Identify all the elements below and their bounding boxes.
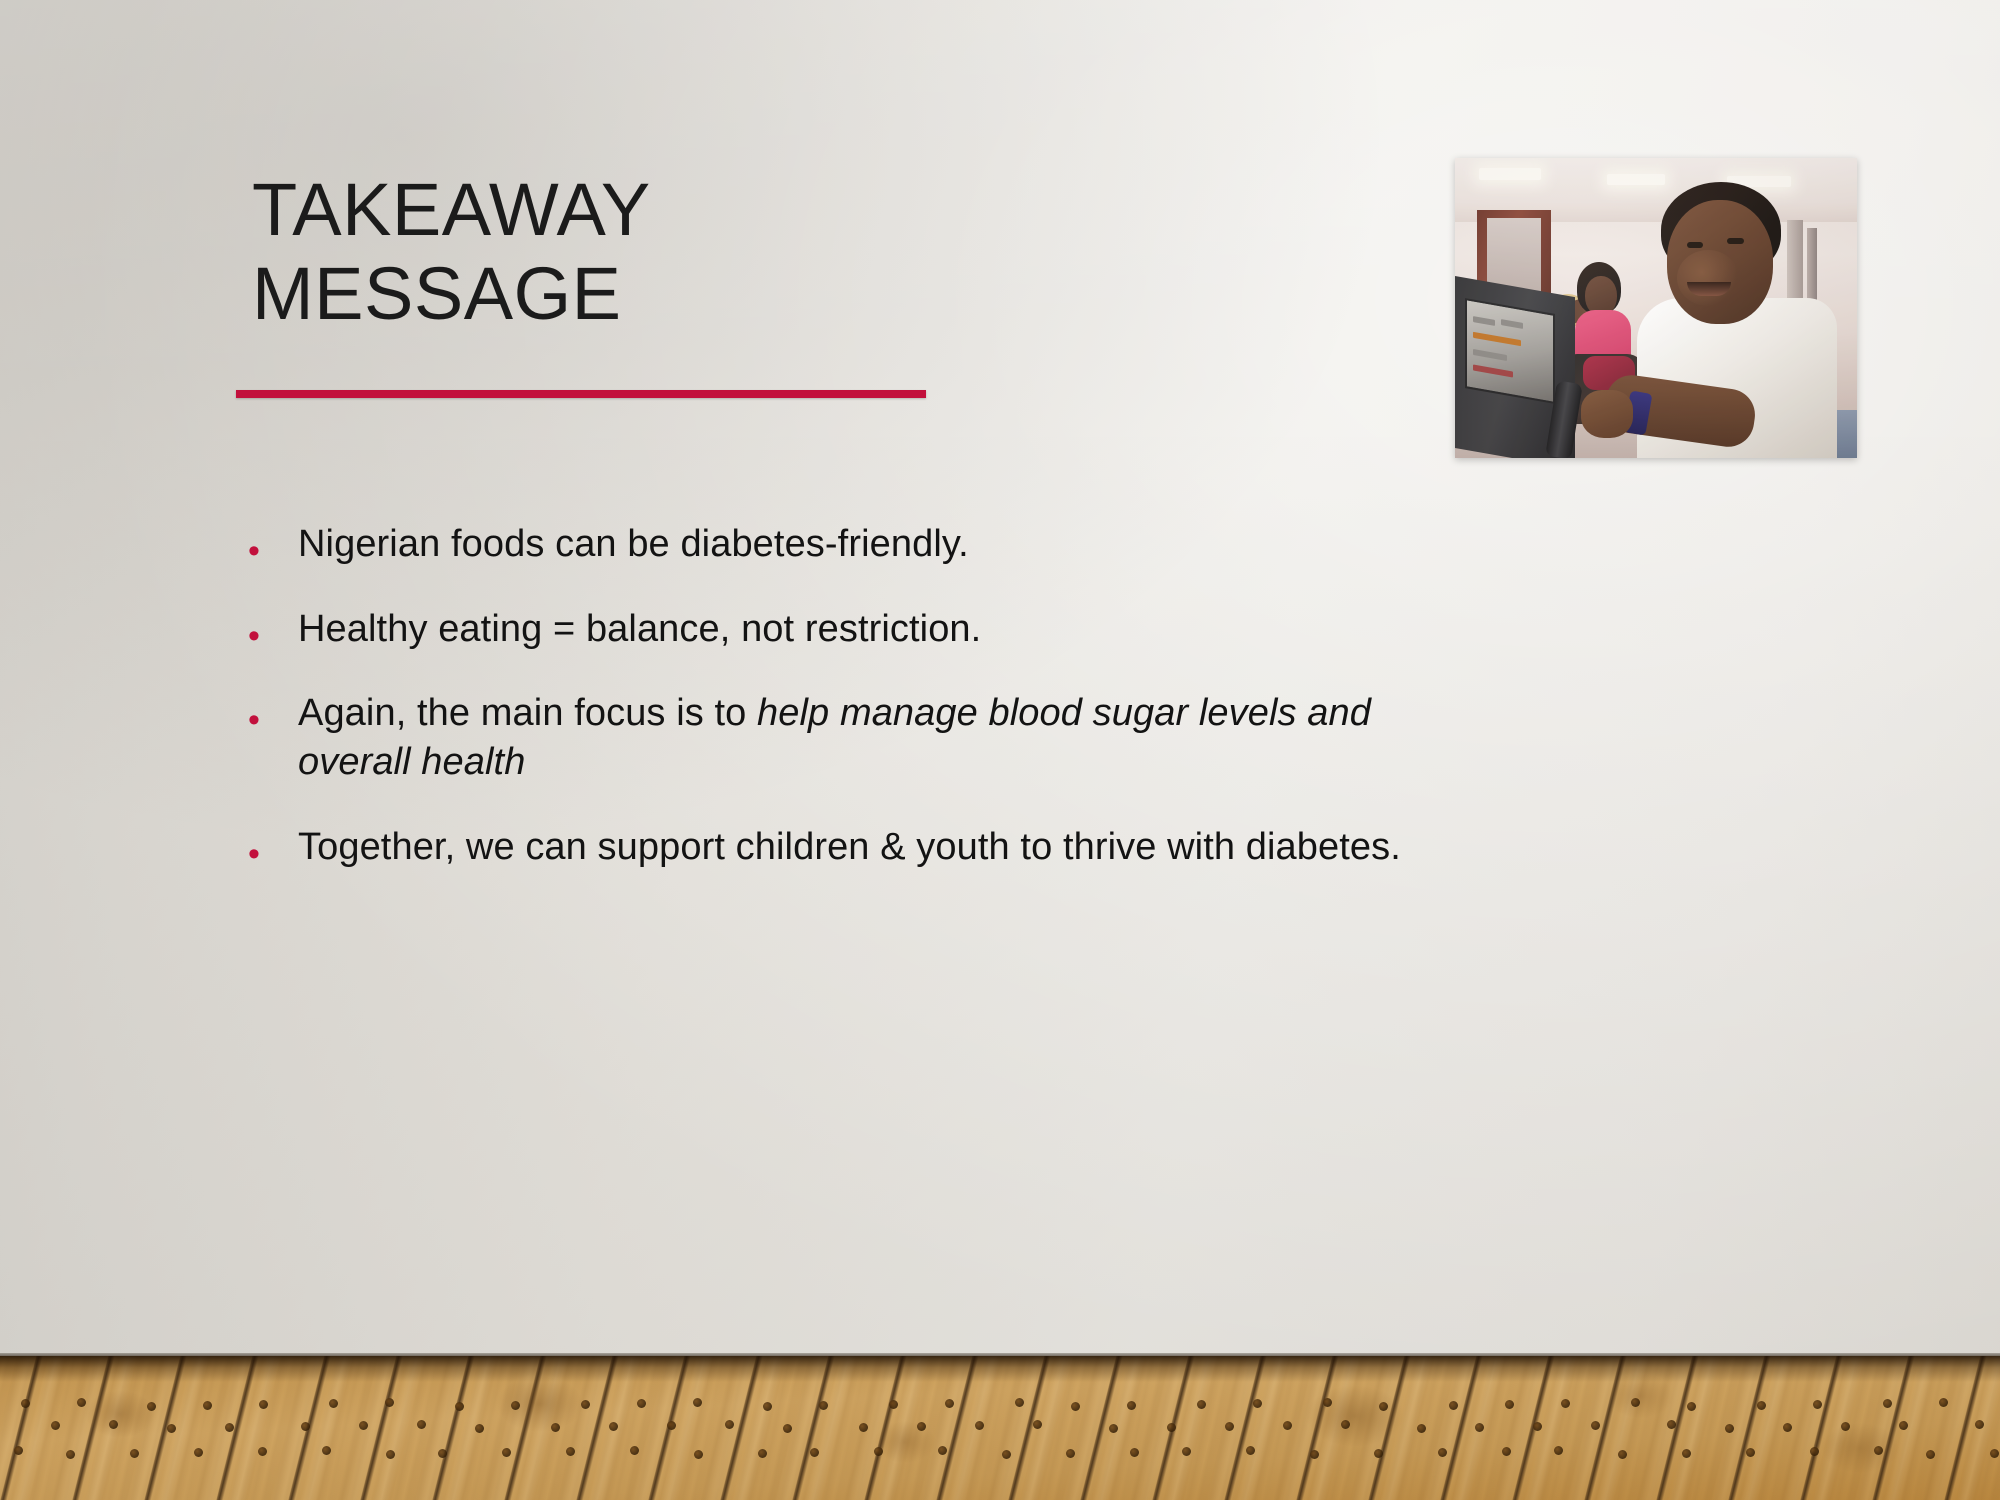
- floor-nail-head: [77, 1398, 86, 1407]
- list-item-text: Healthy eating = balance, not restrictio…: [298, 605, 1408, 654]
- floor-nail-head: [783, 1424, 792, 1433]
- floor-nail-head: [1283, 1421, 1292, 1430]
- floor-nail-head: [581, 1400, 590, 1409]
- floor-nail-head: [1379, 1402, 1388, 1411]
- floor-nail-head: [1167, 1423, 1176, 1432]
- floor-nail-head: [438, 1449, 447, 1458]
- floor-nail-head: [1197, 1400, 1206, 1409]
- bullet-marker-icon: •: [248, 823, 298, 871]
- floor-nail-head: [1618, 1450, 1627, 1459]
- floor-nail-head: [1253, 1399, 1262, 1408]
- floor-nail-head: [1246, 1446, 1255, 1455]
- floor-nail-head: [1631, 1398, 1640, 1407]
- floor-nail-head: [938, 1446, 947, 1455]
- floor-nail-head: [1810, 1447, 1819, 1456]
- floor-nail-head: [1505, 1400, 1514, 1409]
- floor-nail-head: [203, 1401, 212, 1410]
- floor-nail-head: [1757, 1401, 1766, 1410]
- list-item-text: Nigerian foods can be diabetes-friendly.: [298, 520, 1408, 569]
- floor-nail-head: [667, 1421, 676, 1430]
- photo-ceiling-light: [1479, 168, 1541, 180]
- floor-nail-head: [1990, 1449, 1999, 1458]
- floor-nail-head: [1071, 1402, 1080, 1411]
- floor-nail-head: [386, 1450, 395, 1459]
- floor-nail-head: [329, 1399, 338, 1408]
- floor-nail-head: [859, 1423, 868, 1432]
- floor-nail-head: [511, 1401, 520, 1410]
- floor-nail-head: [66, 1450, 75, 1459]
- floor-nail-head: [630, 1446, 639, 1455]
- floor-nail-head: [1899, 1421, 1908, 1430]
- floor-nail-head: [1975, 1420, 1984, 1429]
- photo-boy-hand: [1581, 390, 1633, 438]
- floor-nail-head: [1225, 1422, 1234, 1431]
- floor-nail-head: [109, 1420, 118, 1429]
- floor-nail-head: [1449, 1401, 1458, 1410]
- floor-nail-head: [1438, 1448, 1447, 1457]
- floor-nail-head: [1682, 1449, 1691, 1458]
- floor-nail-head: [225, 1423, 234, 1432]
- floor-nail-head: [1066, 1449, 1075, 1458]
- floor-nail-head: [359, 1421, 368, 1430]
- floor-nail-head: [566, 1447, 575, 1456]
- list-item-text: Together, we can support children & yout…: [298, 823, 1408, 872]
- floor-nail-head: [258, 1447, 267, 1456]
- floor-nail-head: [693, 1398, 702, 1407]
- floor-nail-head: [975, 1421, 984, 1430]
- floor-nail-head: [1841, 1422, 1850, 1431]
- floor-nail-head: [301, 1422, 310, 1431]
- title-underline-rule: [236, 390, 926, 398]
- photo-boy-eye: [1687, 242, 1703, 248]
- floor-nail-head: [502, 1448, 511, 1457]
- wood-floor: [0, 1356, 2000, 1500]
- floor-nail-head: [945, 1399, 954, 1408]
- floor-nail-head: [1417, 1424, 1426, 1433]
- floor-nail-head: [1475, 1423, 1484, 1432]
- floor-nail-head: [385, 1398, 394, 1407]
- floor-nail-head: [167, 1424, 176, 1433]
- list-item-text-plain: Healthy eating = balance, not restrictio…: [298, 608, 981, 650]
- presentation-slide: TAKEAWAY MESSAGE • Nigerian foods can be…: [0, 0, 2000, 1500]
- list-item: • Healthy eating = balance, not restrict…: [248, 605, 1408, 654]
- floor-nail-head: [1015, 1398, 1024, 1407]
- floor-nail-head: [1783, 1423, 1792, 1432]
- floor-nail-head: [810, 1448, 819, 1457]
- floor-nail-head: [1109, 1424, 1118, 1433]
- floor-nail-head: [1182, 1447, 1191, 1456]
- title-block: TAKEAWAY MESSAGE: [252, 168, 1092, 335]
- bullet-marker-icon: •: [248, 520, 298, 568]
- floor-nail-head: [694, 1450, 703, 1459]
- floor-nail-head: [130, 1449, 139, 1458]
- bullet-list: • Nigerian foods can be diabetes-friendl…: [248, 520, 1408, 907]
- floor-nail-head: [1874, 1446, 1883, 1455]
- floor-nail-head: [1323, 1398, 1332, 1407]
- photo-boy-cheek-highlight: [1677, 250, 1739, 306]
- photo-ceiling-light: [1607, 174, 1665, 185]
- floor-nail-head: [51, 1421, 60, 1430]
- floor-nail-head: [917, 1422, 926, 1431]
- floor-nail-head: [322, 1446, 331, 1455]
- floor-nail-head: [1667, 1420, 1676, 1429]
- list-item: • Nigerian foods can be diabetes-friendl…: [248, 520, 1408, 569]
- floor-nail-head: [1554, 1446, 1563, 1455]
- floor-nail-head: [417, 1420, 426, 1429]
- list-item-text: Again, the main focus is to help manage …: [298, 689, 1408, 786]
- list-item-text-plain: Together, we can support children & yout…: [298, 826, 1401, 868]
- floor-nail-head: [874, 1447, 883, 1456]
- photo-boy-eye: [1727, 238, 1744, 244]
- floor-nail-head: [819, 1401, 828, 1410]
- floor-nail-head: [1310, 1450, 1319, 1459]
- floor-nail-head: [1561, 1399, 1570, 1408]
- floor-nail-head: [725, 1420, 734, 1429]
- bullet-marker-icon: •: [248, 689, 298, 737]
- list-item-text-plain: Again, the main focus is to: [298, 692, 757, 734]
- list-item: • Again, the main focus is to help manag…: [248, 689, 1408, 786]
- page-title: TAKEAWAY MESSAGE: [252, 168, 1092, 335]
- wood-floor-grain: [0, 1356, 2000, 1500]
- floor-nail-head: [1533, 1422, 1542, 1431]
- floor-nail-head: [1127, 1401, 1136, 1410]
- floor-nail-head: [763, 1402, 772, 1411]
- floor-nail-head: [1033, 1420, 1042, 1429]
- list-item-text-plain: Nigerian foods can be diabetes-friendly.: [298, 523, 969, 565]
- slide-photo: [1455, 158, 1857, 458]
- floor-nail-head: [1725, 1424, 1734, 1433]
- bullet-marker-icon: •: [248, 605, 298, 653]
- floor-nail-head: [1341, 1420, 1350, 1429]
- list-item: • Together, we can support children & yo…: [248, 823, 1408, 872]
- floor-nail-head: [551, 1423, 560, 1432]
- floor-nail-head: [1502, 1447, 1511, 1456]
- floor-nail-head: [1746, 1448, 1755, 1457]
- floor-nail-head: [147, 1402, 156, 1411]
- floor-nail-head: [194, 1448, 203, 1457]
- floor-nail-head: [1926, 1450, 1935, 1459]
- floor-nail-head: [758, 1449, 767, 1458]
- floor-nail-head: [1813, 1400, 1822, 1409]
- floor-nail-head: [1591, 1421, 1600, 1430]
- floor-nail-head: [889, 1400, 898, 1409]
- floor-nail-head: [475, 1424, 484, 1433]
- floor-nail-head: [609, 1422, 618, 1431]
- floor-nail-head: [1130, 1448, 1139, 1457]
- floor-nail-head: [637, 1399, 646, 1408]
- floor-nail-head: [1687, 1402, 1696, 1411]
- floor-nail-head: [1374, 1449, 1383, 1458]
- floor-nail-head: [1939, 1398, 1948, 1407]
- floor-nail-head: [1002, 1450, 1011, 1459]
- floor-nail-head: [14, 1446, 23, 1455]
- floor-nail-head: [455, 1402, 464, 1411]
- floor-nail-head: [259, 1400, 268, 1409]
- floor-nail-head: [1883, 1399, 1892, 1408]
- floor-nail-head: [21, 1399, 30, 1408]
